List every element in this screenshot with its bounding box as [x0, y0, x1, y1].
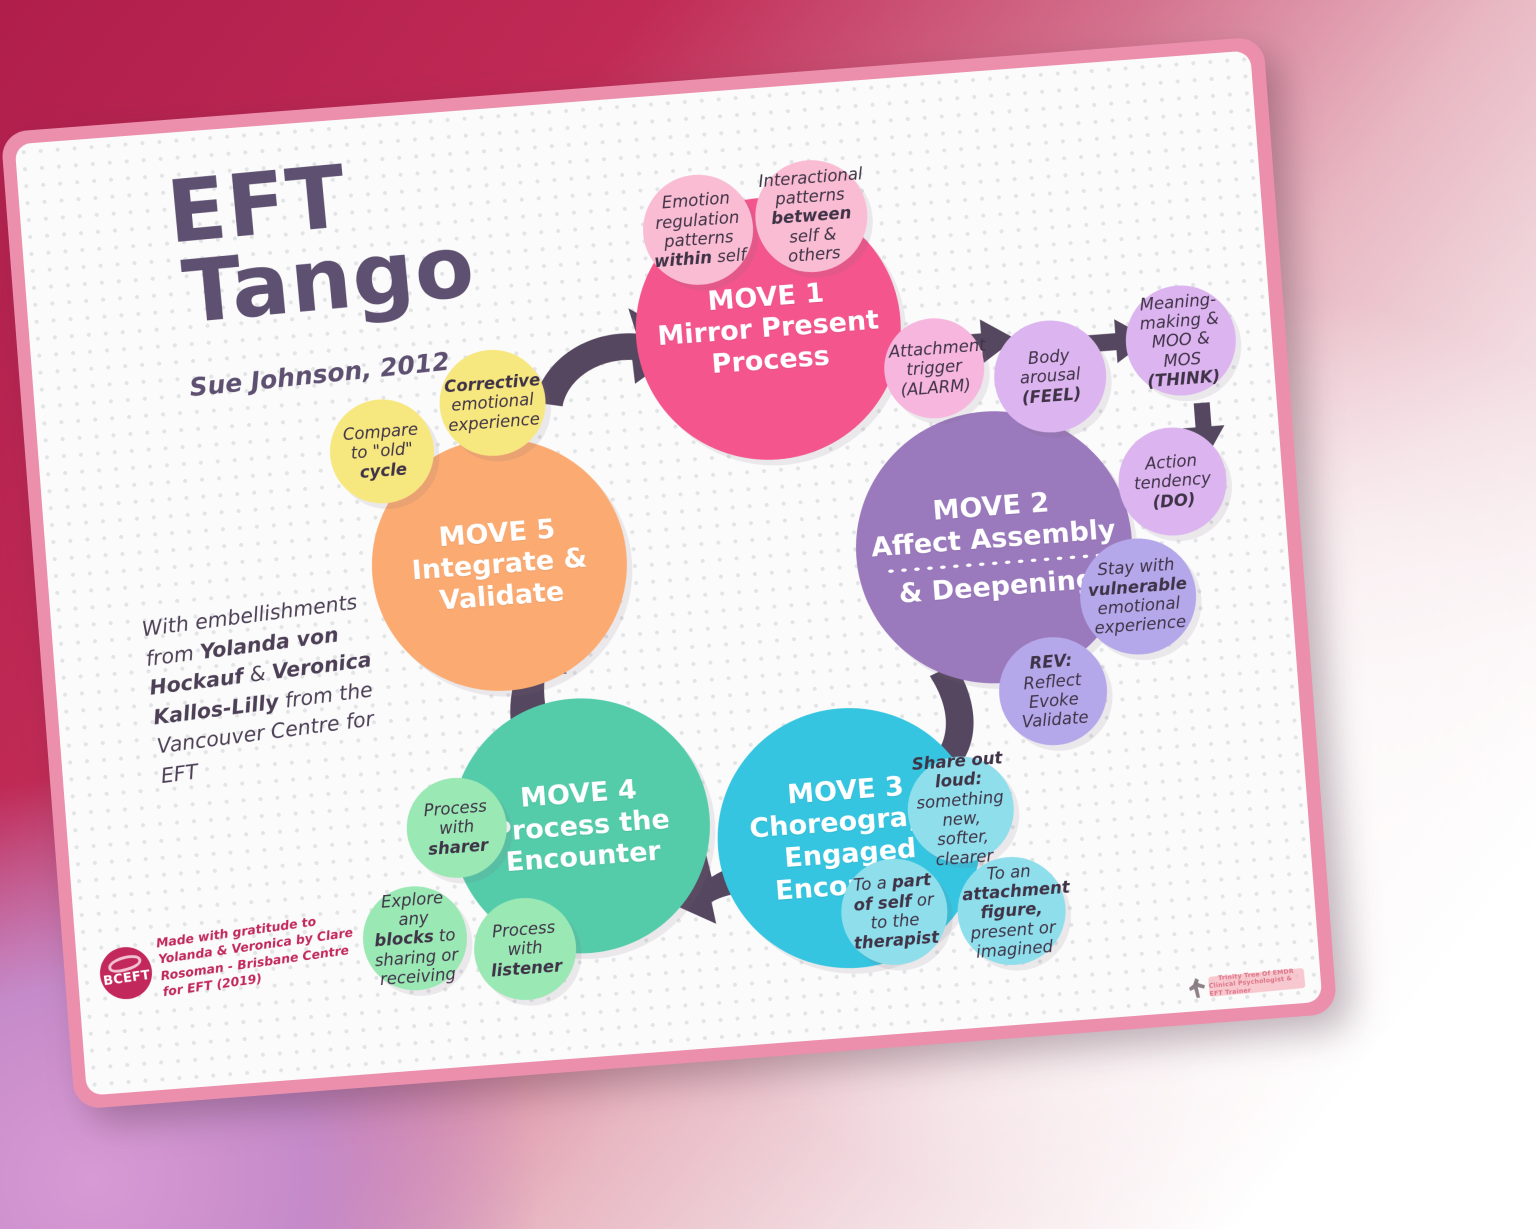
share-out-loud-text-2: something new, softer, clearer [916, 787, 1005, 869]
emotion-reg-text-1: Emotion regulation patterns [655, 189, 740, 252]
attachment-figure-label: To an attachment figure, present or imag… [954, 859, 1069, 963]
satellite-share-out-loud[interactable]: Share out loud: something new, softer, c… [904, 753, 1018, 867]
attachment-figure-text-3: present or imagined [970, 917, 1056, 961]
bceft-mark-text: BCEFT [100, 967, 154, 989]
compare-to-old-cycle-label: Compare to "old" cycle [328, 419, 436, 485]
process-sharer-label: Process with sharer [405, 795, 509, 860]
explore-blocks-text-1: Explore any [380, 888, 444, 930]
compare-text-2: cycle [359, 459, 407, 482]
slide-surface: EFT Tango Sue Johnson, 2012 With embelli… [15, 50, 1323, 1095]
satellite-explore-any-blocks[interactable]: Explore any blocks to sharing or receivi… [359, 883, 471, 995]
title-line-2: Tango [179, 226, 478, 334]
page-title: EFT Tango [164, 146, 478, 335]
stay-vulnerable-label: Stay with vulnerable emotional experienc… [1077, 554, 1199, 640]
secondary-logo: Trinity Tree Of EMDR Clinical Psychologi… [1188, 964, 1306, 1003]
bceft-logo: BCEFT Made with gratitude to Yolanda & V… [96, 907, 370, 1009]
move-1-label: MOVE 1 Mirror Present Process [633, 271, 904, 386]
emotion-reg-text-3: self [711, 246, 747, 268]
action-tendency-label: Action tendency (DO) [1116, 449, 1228, 515]
process-sharer-text-1: Process with [423, 797, 488, 839]
action-tendency-text-2: (DO) [1152, 490, 1196, 512]
rev-text-2: Reflect Evoke Validate [1021, 670, 1089, 732]
stay-vulnerable-text-3: emotional experience [1094, 593, 1187, 638]
slide-wrapper: EFT Tango Sue Johnson, 2012 With embelli… [1, 36, 1338, 1109]
part-of-self-text-4: therapist [853, 928, 939, 953]
satellite-meaning-making-think[interactable]: Meaning-making & MOO & MOS (THINK) [1122, 281, 1240, 399]
emotion-regulation-label: Emotion regulation patterns within self [640, 187, 756, 272]
process-listener-text-2: listener [490, 956, 563, 980]
part-of-self-text-1: To a [853, 873, 893, 895]
body-arousal-label: Body arousal (FEEL) [992, 343, 1108, 409]
body-arousal-text-1: Body arousal [1019, 346, 1081, 388]
credits-block: With embellishments from Yolanda von Hoc… [140, 586, 393, 791]
body-arousal-text-2: (FEEL) [1021, 384, 1082, 407]
bceft-badge-icon: BCEFT [97, 944, 156, 1003]
interactional-text-3: self & others [787, 224, 841, 266]
attachment-trigger-label: Attachment trigger (ALARM) [882, 336, 986, 401]
satellite-interactional-patterns-between[interactable]: Interactional patterns between self & ot… [751, 156, 871, 276]
emotion-reg-text-2: within [653, 248, 712, 271]
attachment-figure-text-2: attachment figure, [962, 878, 1071, 923]
corrective-text-2: emotional experience [448, 390, 541, 435]
satellite-to-an-attachment-figure[interactable]: To an attachment figure, present or imag… [954, 853, 1070, 969]
process-listener-label: Process with listener [472, 916, 578, 981]
poster-canvas: EFT Tango Sue Johnson, 2012 With embelli… [0, 0, 1536, 1229]
process-listener-text-1: Process with [491, 918, 556, 960]
share-out-loud-text-1: Share out loud: [911, 748, 1003, 791]
attribution-text: Made with gratitude to Yolanda & Veronic… [155, 907, 370, 1001]
process-sharer-text-2: sharer [427, 835, 488, 859]
person-icon [1188, 977, 1207, 998]
rev-label: REV: Reflect Evoke Validate [996, 649, 1110, 734]
credits-text-2: & [242, 660, 274, 688]
move-5-label: MOVE 5 Integrate & Validate [369, 508, 630, 622]
explore-blocks-label: Explore any blocks to sharing or receivi… [359, 886, 470, 990]
compare-text-1: Compare to "old" [342, 420, 418, 463]
secondary-logo-bar: Trinity Tree Of EMDR Clinical Psychologi… [1208, 968, 1305, 997]
meaning-making-text-2: (THINK) [1147, 367, 1221, 391]
meaning-making-label: Meaning-making & MOO & MOS (THINK) [1122, 288, 1239, 393]
corrective-label: Corrective emotional experience [438, 370, 548, 436]
attachment-trigger-text: Attachment trigger (ALARM) [888, 335, 986, 399]
page-subtitle: Sue Johnson, 2012 [188, 347, 451, 402]
meaning-making-text-1: Meaning-making & MOO & MOS [1139, 289, 1220, 370]
share-out-loud-label: Share out loud: something new, softer, c… [904, 748, 1018, 871]
interactional-label: Interactional patterns between self & ot… [752, 164, 871, 269]
action-tendency-text-1: Action tendency [1133, 451, 1211, 494]
slide-border: EFT Tango Sue Johnson, 2012 With embelli… [1, 36, 1338, 1109]
part-of-self-label: To a part of self or to the therapist [839, 869, 951, 954]
satellite-action-tendency-do[interactable]: Action tendency (DO) [1115, 424, 1231, 540]
interactional-text-1: Interactional patterns [758, 164, 863, 209]
